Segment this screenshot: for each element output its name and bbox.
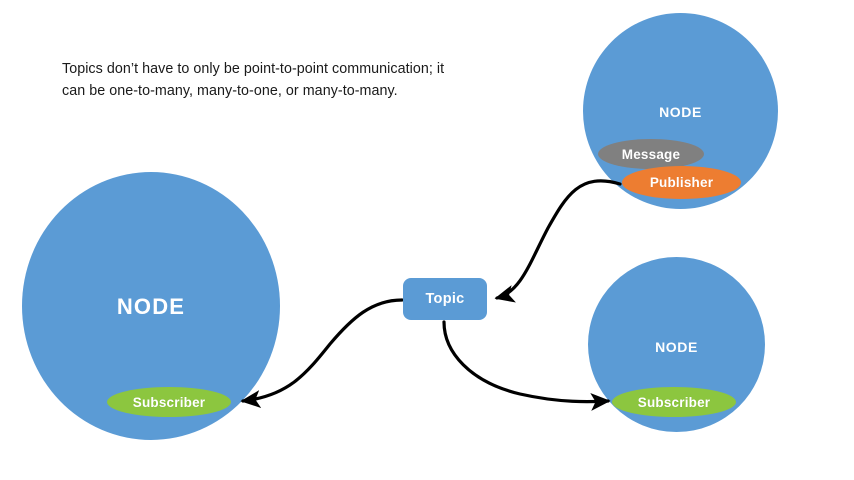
subscriber-pill-left[interactable]: Subscriber — [107, 387, 231, 417]
subscriber-pill-right[interactable]: Subscriber — [612, 387, 736, 417]
topic-box[interactable]: Topic — [403, 278, 487, 320]
arrow-topic-to-subscriber-right — [444, 322, 608, 402]
node-label-left: NODE — [22, 294, 280, 320]
arrow-publisher-to-topic — [497, 181, 620, 298]
caption-text: Topics don’t have to only be point-to-po… — [62, 58, 482, 102]
node-label-publisher: NODE — [583, 104, 778, 120]
node-label-right: NODE — [588, 339, 765, 355]
publisher-pill[interactable]: Publisher — [622, 166, 741, 199]
message-pill[interactable]: Message — [598, 139, 704, 169]
diagram-canvas: Topics don’t have to only be point-to-po… — [0, 0, 854, 480]
